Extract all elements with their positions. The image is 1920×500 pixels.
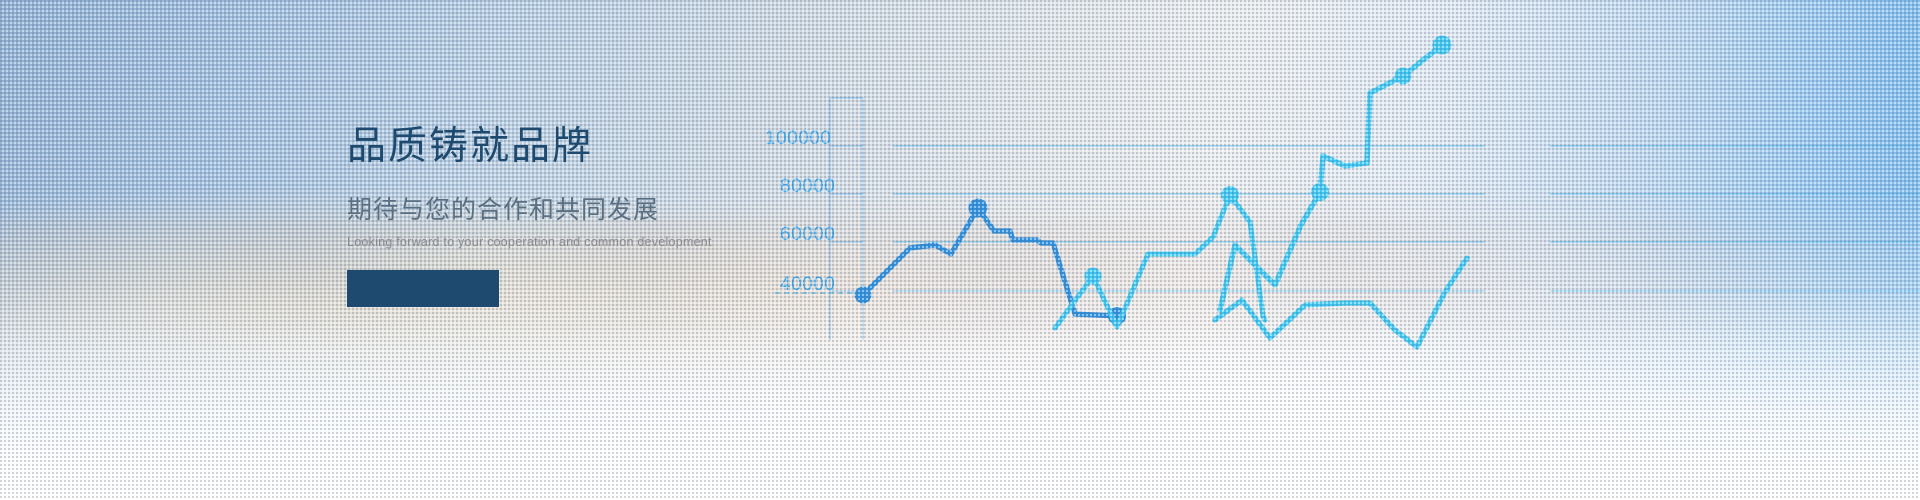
- y-tick-label-60000: 60000: [780, 224, 835, 245]
- page-subtitle: 期待与您的合作和共同发展: [347, 190, 727, 226]
- y-tick-label-80000: 80000: [780, 176, 835, 197]
- hero-copy: 品质铸就品牌 期待与您的合作和共同发展 Looking forward to y…: [347, 124, 727, 307]
- series-line-3: [1220, 45, 1442, 310]
- page-tagline: Looking forward to your cooperation and …: [347, 235, 727, 249]
- axis-frame: [830, 98, 863, 340]
- series-line-4: [1215, 258, 1467, 347]
- cta-button[interactable]: [347, 270, 499, 307]
- line-chart: 100000 80000 60000 40000: [745, 0, 1920, 500]
- series-line-1: [863, 208, 1117, 316]
- y-tick-label-40000: 40000: [780, 274, 835, 295]
- hero-banner: 100000 80000 60000 40000: [0, 0, 1920, 500]
- gridlines: [893, 146, 1920, 291]
- y-tick-label-100000: 100000: [765, 128, 831, 149]
- series-markers-3: [1311, 36, 1452, 202]
- page-title: 品质铸就品牌: [347, 124, 727, 170]
